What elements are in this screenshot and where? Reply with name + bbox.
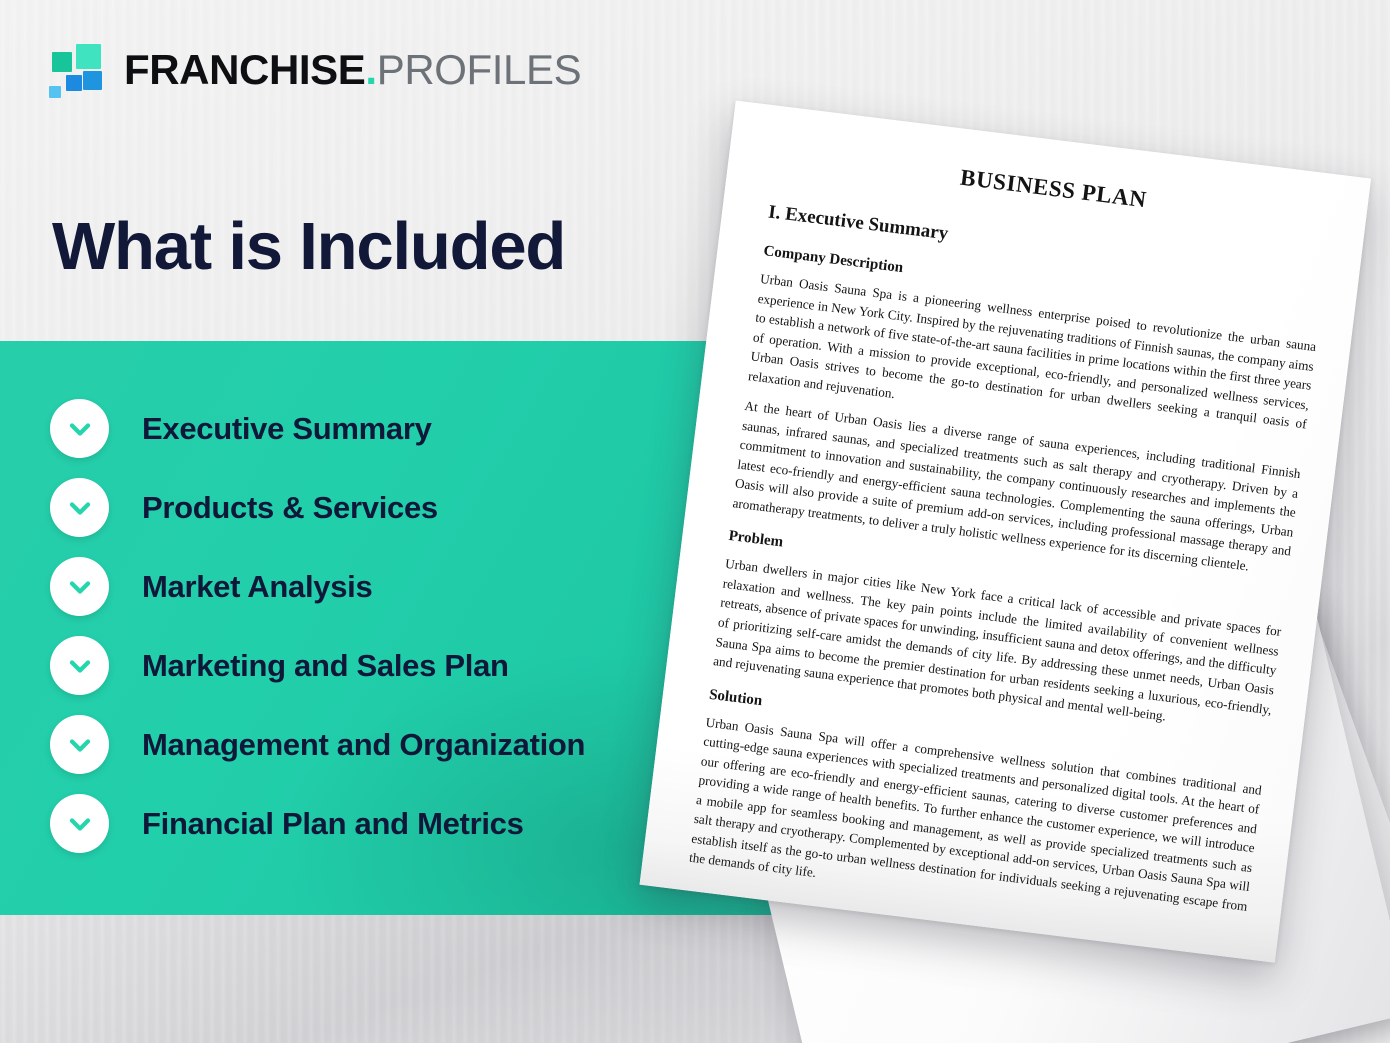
document-page-front: BUSINESS PLAN I. Executive Summary Compa… [640, 101, 1372, 963]
document-content: BUSINESS PLAN I. Executive Summary Compa… [687, 142, 1333, 947]
brand-name-bold: FRANCHISE [124, 46, 365, 93]
list-item[interactable]: Financial Plan and Metrics [50, 794, 710, 853]
list-item-label: Executive Summary [142, 411, 432, 447]
list-item-label: Products & Services [142, 490, 438, 526]
list-item[interactable]: Executive Summary [50, 399, 710, 458]
chevron-down-icon[interactable] [50, 794, 109, 853]
chevron-down-icon[interactable] [50, 636, 109, 695]
slide-canvas: FRANCHISE.PROFILES What is Included Exec… [0, 0, 1390, 1043]
list-item-label: Financial Plan and Metrics [142, 806, 524, 842]
list-item[interactable]: Marketing and Sales Plan [50, 636, 710, 695]
list-item[interactable]: Market Analysis [50, 557, 710, 616]
square-blue-light-icon [49, 86, 61, 98]
square-teal-light-icon [76, 44, 101, 69]
brand-logo[interactable]: FRANCHISE.PROFILES [44, 42, 581, 98]
square-teal-dark-icon [52, 52, 72, 72]
chevron-down-icon[interactable] [50, 399, 109, 458]
chevron-down-icon[interactable] [50, 478, 109, 537]
document-stack: Complemented by exceptional add-on servi… [700, 120, 1390, 1043]
brand-wordmark: FRANCHISE.PROFILES [124, 49, 581, 91]
brand-name-dot: . [365, 46, 376, 93]
page-title: What is Included [52, 213, 565, 280]
list-item-label: Management and Organization [142, 727, 585, 763]
chevron-down-icon[interactable] [50, 557, 109, 616]
square-blue-mid-icon [66, 75, 82, 91]
brand-name-thin: PROFILES [377, 46, 582, 93]
square-blue-icon [83, 71, 102, 90]
included-items-list: Executive Summary Products & Services Ma… [50, 399, 710, 853]
chevron-down-icon[interactable] [50, 715, 109, 774]
logo-mark-squares-icon [44, 42, 106, 98]
list-item-label: Marketing and Sales Plan [142, 648, 509, 684]
list-item-label: Market Analysis [142, 569, 372, 605]
list-item[interactable]: Products & Services [50, 478, 710, 537]
list-item[interactable]: Management and Organization [50, 715, 710, 774]
